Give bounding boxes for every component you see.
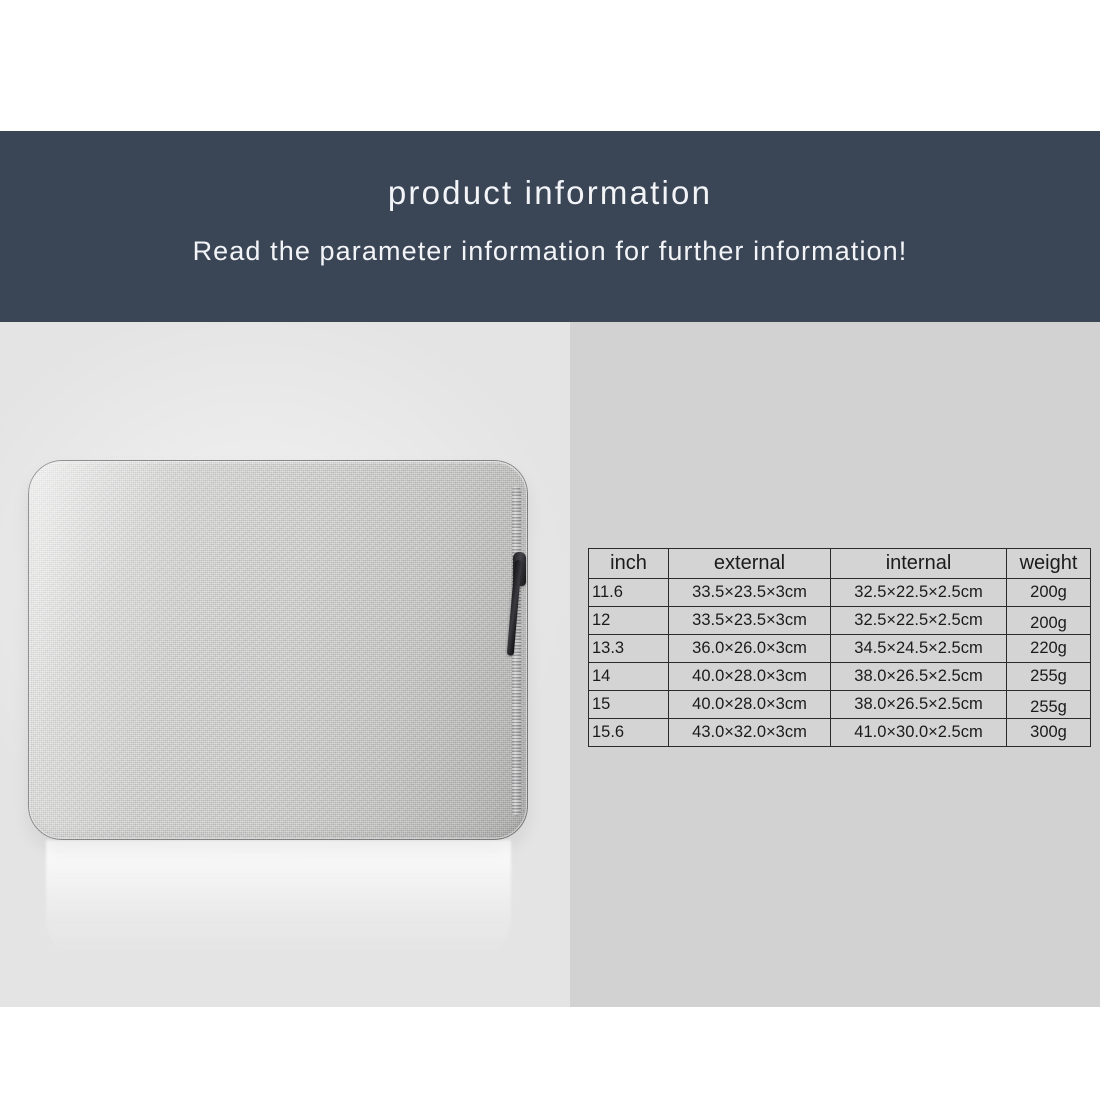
cell-external: 33.5×23.5×3cm bbox=[669, 579, 831, 607]
cell-weight: 300g bbox=[1007, 719, 1091, 747]
edge-piping bbox=[28, 460, 528, 840]
cell-weight: 200g bbox=[1007, 607, 1091, 635]
table-body: 11.6 33.5×23.5×3cm 32.5×22.5×2.5cm 200g … bbox=[589, 579, 1091, 747]
fabric-texture bbox=[28, 460, 528, 840]
specification-table: inch external internal weight 11.6 33.5×… bbox=[588, 548, 1091, 747]
column-header-internal: internal bbox=[831, 549, 1007, 579]
table-row: 11.6 33.5×23.5×3cm 32.5×22.5×2.5cm 200g bbox=[589, 579, 1091, 607]
floor-reflection bbox=[46, 840, 511, 960]
cell-external: 43.0×32.0×3cm bbox=[669, 719, 831, 747]
table-row: 12 33.5×23.5×3cm 32.5×22.5×2.5cm 200g bbox=[589, 607, 1091, 635]
table-header-row: inch external internal weight bbox=[589, 549, 1091, 579]
cell-internal: 32.5×22.5×2.5cm bbox=[831, 607, 1007, 635]
table-row: 13.3 36.0×26.0×3cm 34.5×24.5×2.5cm 220g bbox=[589, 635, 1091, 663]
product-photo-panel bbox=[0, 322, 570, 1007]
table-header: inch external internal weight bbox=[589, 549, 1091, 579]
table-row: 15.6 43.0×32.0×3cm 41.0×30.0×2.5cm 300g bbox=[589, 719, 1091, 747]
spec-table-panel: inch external internal weight 11.6 33.5×… bbox=[570, 322, 1100, 1007]
fabric-sheen bbox=[28, 460, 528, 840]
cell-internal: 34.5×24.5×2.5cm bbox=[831, 635, 1007, 663]
cell-weight: 200g bbox=[1007, 579, 1091, 607]
cell-inch: 11.6 bbox=[589, 579, 669, 607]
table-row: 14 40.0×28.0×3cm 38.0×26.5×2.5cm 255g bbox=[589, 663, 1091, 691]
cell-inch: 12 bbox=[589, 607, 669, 635]
cell-internal: 41.0×30.0×2.5cm bbox=[831, 719, 1007, 747]
cell-weight: 255g bbox=[1007, 663, 1091, 691]
cell-inch: 14 bbox=[589, 663, 669, 691]
cell-external: 33.5×23.5×3cm bbox=[669, 607, 831, 635]
cell-inch: 15 bbox=[589, 691, 669, 719]
cell-weight: 255g bbox=[1007, 691, 1091, 719]
table-row: 15 40.0×28.0×3cm 38.0×26.5×2.5cm 255g bbox=[589, 691, 1091, 719]
cell-inch: 15.6 bbox=[589, 719, 669, 747]
column-header-inch: inch bbox=[589, 549, 669, 579]
cell-external: 40.0×28.0×3cm bbox=[669, 663, 831, 691]
cell-external: 40.0×28.0×3cm bbox=[669, 691, 831, 719]
column-header-weight: weight bbox=[1007, 549, 1091, 579]
cell-inch: 13.3 bbox=[589, 635, 669, 663]
laptop-sleeve-image bbox=[28, 460, 528, 840]
cell-weight: 220g bbox=[1007, 635, 1091, 663]
content-area: inch external internal weight 11.6 33.5×… bbox=[0, 322, 1100, 1007]
page-subtitle: Read the parameter information for furth… bbox=[0, 234, 1100, 268]
product-information-page: product information Read the parameter i… bbox=[0, 0, 1100, 1100]
zipper-cord bbox=[507, 560, 522, 656]
cell-internal: 38.0×26.5×2.5cm bbox=[831, 691, 1007, 719]
header-banner: product information Read the parameter i… bbox=[0, 131, 1100, 322]
cell-internal: 38.0×26.5×2.5cm bbox=[831, 663, 1007, 691]
cell-internal: 32.5×22.5×2.5cm bbox=[831, 579, 1007, 607]
page-title: product information bbox=[0, 173, 1100, 213]
cell-external: 36.0×26.0×3cm bbox=[669, 635, 831, 663]
column-header-external: external bbox=[669, 549, 831, 579]
